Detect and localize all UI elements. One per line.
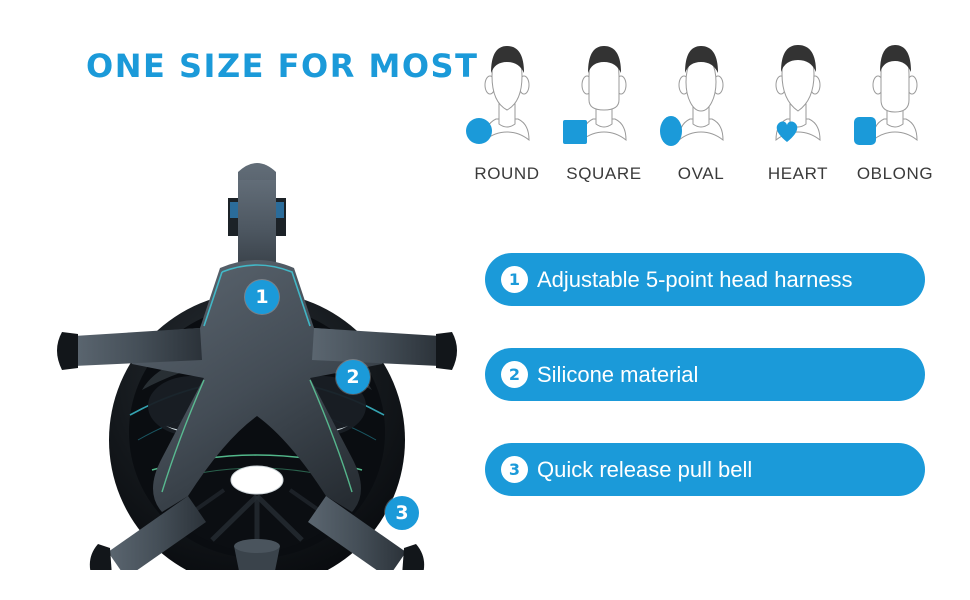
face-illustration bbox=[462, 40, 552, 162]
face-shape-label: ROUND bbox=[474, 164, 539, 184]
product-callout-3: 3 bbox=[385, 496, 419, 530]
face-illustration bbox=[656, 40, 746, 162]
feature-label: Quick release pull bell bbox=[537, 457, 752, 483]
oval-shape-icon bbox=[660, 116, 682, 146]
product-callout-1: 1 bbox=[245, 280, 279, 314]
face-shape-row: ROUND SQUARE bbox=[462, 40, 940, 192]
feature-pill-3: 3 Quick release pull bell bbox=[485, 443, 925, 496]
feature-list: 1 Adjustable 5-point head harness 2 Sili… bbox=[485, 253, 925, 538]
feature-number-badge: 1 bbox=[501, 266, 528, 293]
face-shape-label: HEART bbox=[768, 164, 828, 184]
feature-pill-1: 1 Adjustable 5-point head harness bbox=[485, 253, 925, 306]
square-shape-icon bbox=[563, 120, 587, 144]
face-shape-label: SQUARE bbox=[566, 164, 641, 184]
face-shape-label: OVAL bbox=[678, 164, 725, 184]
face-shape-round: ROUND bbox=[462, 40, 552, 184]
feature-number-badge: 3 bbox=[501, 456, 528, 483]
feature-number-badge: 2 bbox=[501, 361, 528, 388]
feature-label: Silicone material bbox=[537, 362, 698, 388]
face-shape-label: OBLONG bbox=[857, 164, 933, 184]
infographic-canvas: ONE SIZE FOR MOST bbox=[0, 0, 970, 600]
page-title: ONE SIZE FOR MOST bbox=[86, 47, 478, 85]
circle-shape-icon bbox=[466, 118, 492, 144]
product-callout-2: 2 bbox=[336, 360, 370, 394]
face-illustration bbox=[753, 40, 843, 162]
face-shape-heart: HEART bbox=[753, 40, 843, 184]
oblong-shape-icon bbox=[854, 117, 876, 145]
face-shape-square: SQUARE bbox=[559, 40, 649, 184]
face-shape-oblong: OBLONG bbox=[850, 40, 940, 184]
face-illustration bbox=[850, 40, 940, 162]
feature-pill-2: 2 Silicone material bbox=[485, 348, 925, 401]
face-illustration bbox=[559, 40, 649, 162]
feature-label: Adjustable 5-point head harness bbox=[537, 267, 853, 293]
face-shape-oval: OVAL bbox=[656, 40, 746, 184]
heart-shape-icon bbox=[757, 118, 783, 144]
